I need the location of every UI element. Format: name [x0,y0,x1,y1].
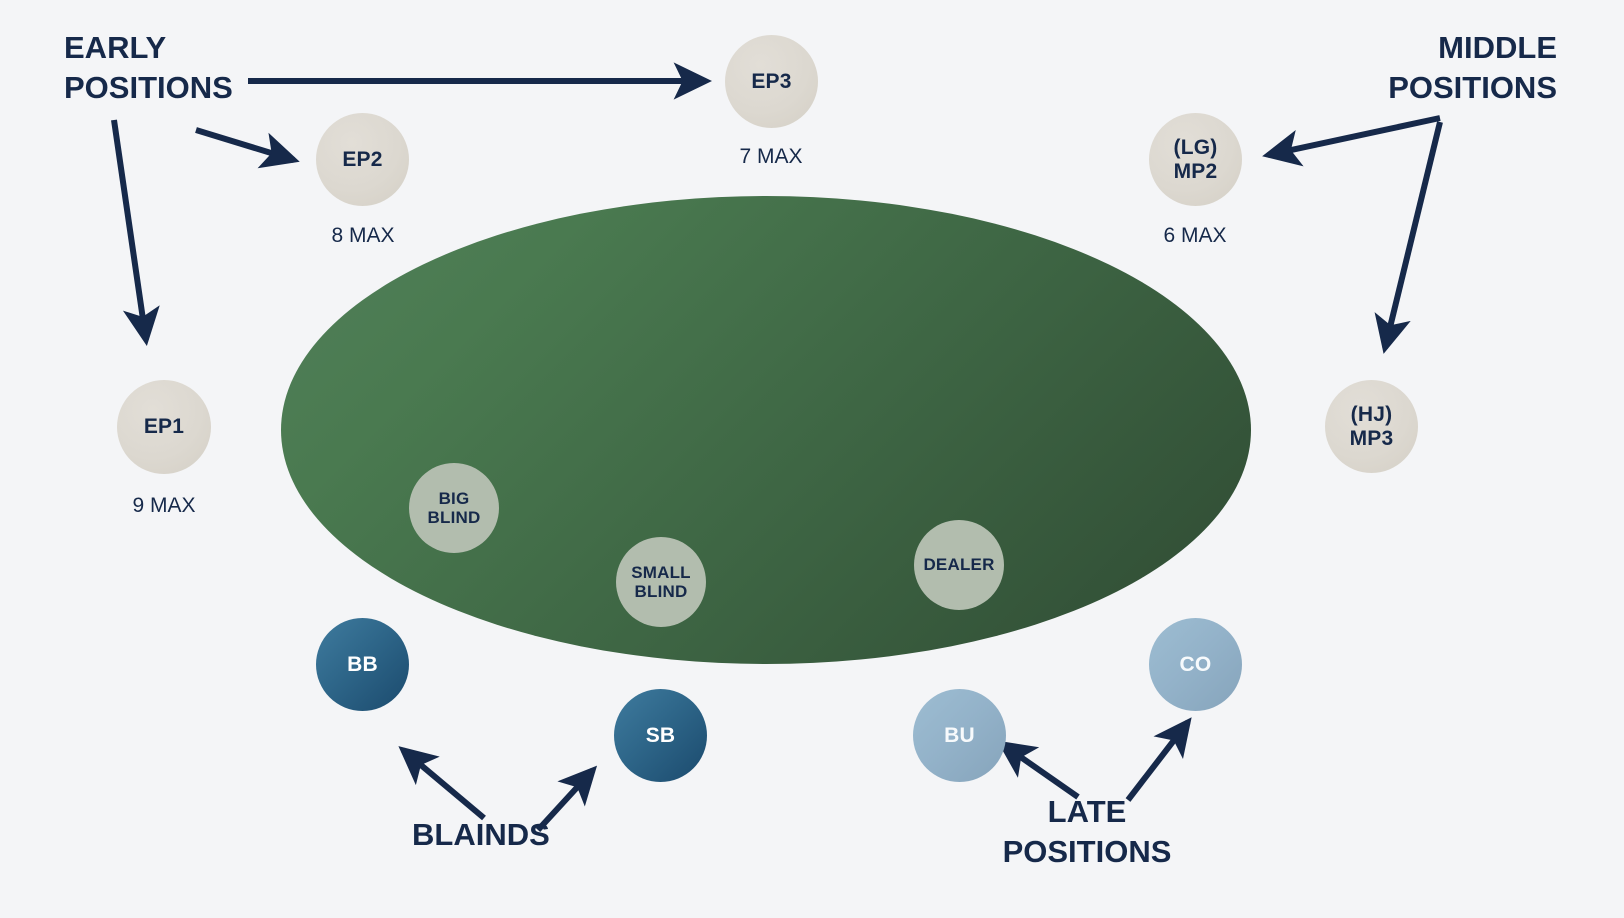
arrow-middle-to-mp3 [1385,122,1440,348]
seat-small-blind[interactable]: SMALL BLIND [616,537,706,627]
max-label-ep3: 7 MAX [700,145,842,169]
arrow-blinds-to-bb [403,750,484,818]
group-label-blinds: BLAINDS [412,815,550,855]
group-label-early-positions: EARLY POSITIONS [64,28,233,107]
seat-ep1[interactable]: EP1 [117,380,211,474]
arrow-late-to-co [1128,722,1188,800]
group-label-late-positions: LATE POSITIONS [980,792,1194,871]
seat-big-blind[interactable]: BIG BLIND [409,463,499,553]
seat-ep2[interactable]: EP2 [316,113,409,206]
seat-sb-label: SB [646,724,676,748]
seat-ep2-label: EP2 [342,148,382,172]
arrow-late-to-bu [1002,744,1078,797]
seat-mp2-label: (LG) MP2 [1174,136,1218,183]
seat-ep3[interactable]: EP3 [725,35,818,128]
seat-sb[interactable]: SB [614,689,707,782]
seat-bu[interactable]: BU [913,689,1006,782]
seat-big-blind-label: BIG BLIND [428,489,481,527]
seat-co-label: CO [1180,653,1212,677]
seat-bu-label: BU [944,724,975,748]
seat-ep3-label: EP3 [751,70,791,94]
seat-ep1-label: EP1 [144,415,184,439]
max-label-ep2: 8 MAX [292,224,434,248]
max-label-ep1: 9 MAX [93,494,235,518]
seat-bb-label: BB [347,653,378,677]
seat-mp3-label: (HJ) MP3 [1350,403,1394,450]
arrow-early-to-ep1 [114,120,146,340]
seat-small-blind-label: SMALL BLIND [631,563,691,601]
poker-position-diagram: EARLY POSITIONS MIDDLE POSITIONS BLAINDS… [0,0,1624,918]
poker-table-felt [281,196,1251,664]
max-label-mp2: 6 MAX [1124,224,1266,248]
seat-co[interactable]: CO [1149,618,1242,711]
seat-mp2[interactable]: (LG) MP2 [1149,113,1242,206]
arrow-middle-to-mp2 [1268,118,1440,155]
seat-dealer-label: DEALER [923,555,994,574]
seat-bb[interactable]: BB [316,618,409,711]
seat-dealer[interactable]: DEALER [914,520,1004,610]
seat-mp3[interactable]: (HJ) MP3 [1325,380,1418,473]
arrow-early-to-ep2 [196,130,294,160]
group-label-middle-positions: MIDDLE POSITIONS [1345,28,1557,107]
